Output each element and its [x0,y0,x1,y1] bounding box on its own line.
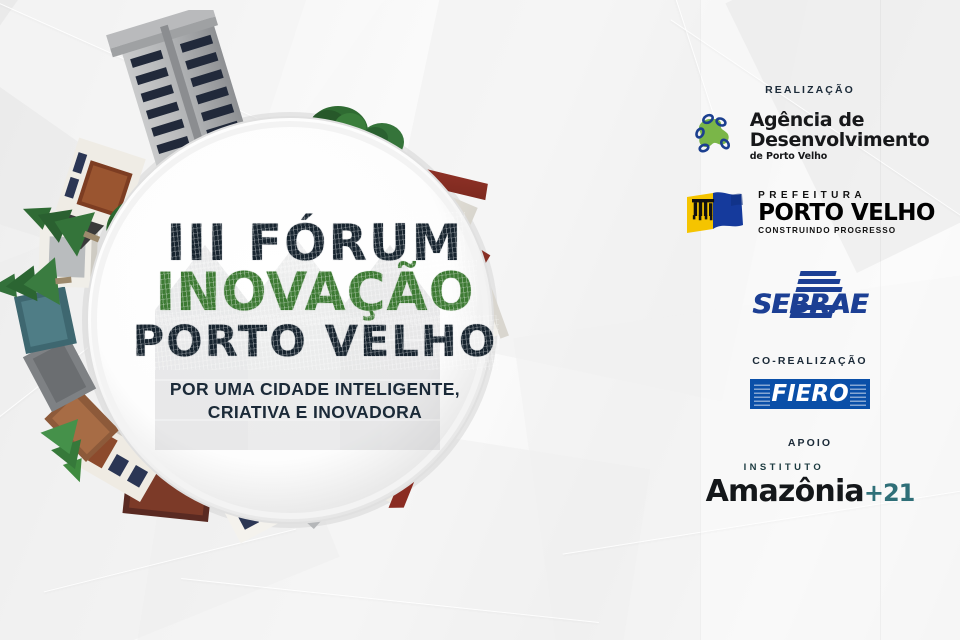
section-label-realizacao: REALIZAÇÃO [765,84,855,96]
poster-title-block: III FÓRUM INOVAÇÃO PORTO VELHO POR UMA C… [130,218,500,424]
section-label-co-realizacao: CO-REALIZAÇÃO [752,355,867,367]
sebrae-wordmark: SEBRAE [746,289,874,320]
sponsor-column: REALIZAÇÃO Agência de Desenvolvimento de… [660,0,960,640]
prefeitura-line-2: PORTO VELHO [758,202,935,225]
title-line-forum: III FÓRUM [167,218,464,268]
agencia-line-1: Agência de [750,111,930,130]
fiero-stripes-right [850,382,866,406]
amazonia-21-suffix: +21 [864,479,915,507]
title-line-porto-velho: PORTO VELHO [133,321,498,364]
subtitle-line-2: CRIATIVA E INOVADORA [130,401,500,424]
amazonia-wordmark: Amazônia [706,474,864,509]
agencia-mark-icon [691,111,741,161]
title-line-inovacao: INOVAÇÃO [155,266,474,319]
logo-agencia-desenvolvimento: Agência de Desenvolvimento de Porto Velh… [691,111,930,162]
prefeitura-flag-icon [685,191,747,237]
logo-instituto-amazonia-21: INSTITUTO Amazônia+21 [706,463,915,509]
poster-subtitle: POR UMA CIDADE INTELIGENTE, CRIATIVA E I… [130,378,500,424]
section-label-apoio: APOIO [788,437,832,449]
agencia-line-3: de Porto Velho [750,152,930,162]
fiero-stripes-left [754,382,770,406]
prefeitura-line-3: CONSTRUINDO PROGRESSO [758,227,935,235]
amazonia-instituto-label: INSTITUTO [744,462,825,473]
logo-sebrae: SEBRAE [746,271,874,329]
agencia-line-2: Desenvolvimento [750,131,930,150]
subtitle-line-1: POR UMA CIDADE INTELIGENTE, [130,378,500,401]
event-poster: III FÓRUM INOVAÇÃO PORTO VELHO POR UMA C… [0,0,960,640]
fiero-wordmark: FIERO [771,381,848,407]
logo-fiero: FIERO [750,379,870,409]
logo-prefeitura-porto-velho: PREFEITURA PORTO VELHO CONSTRUINDO PROGR… [685,191,935,237]
